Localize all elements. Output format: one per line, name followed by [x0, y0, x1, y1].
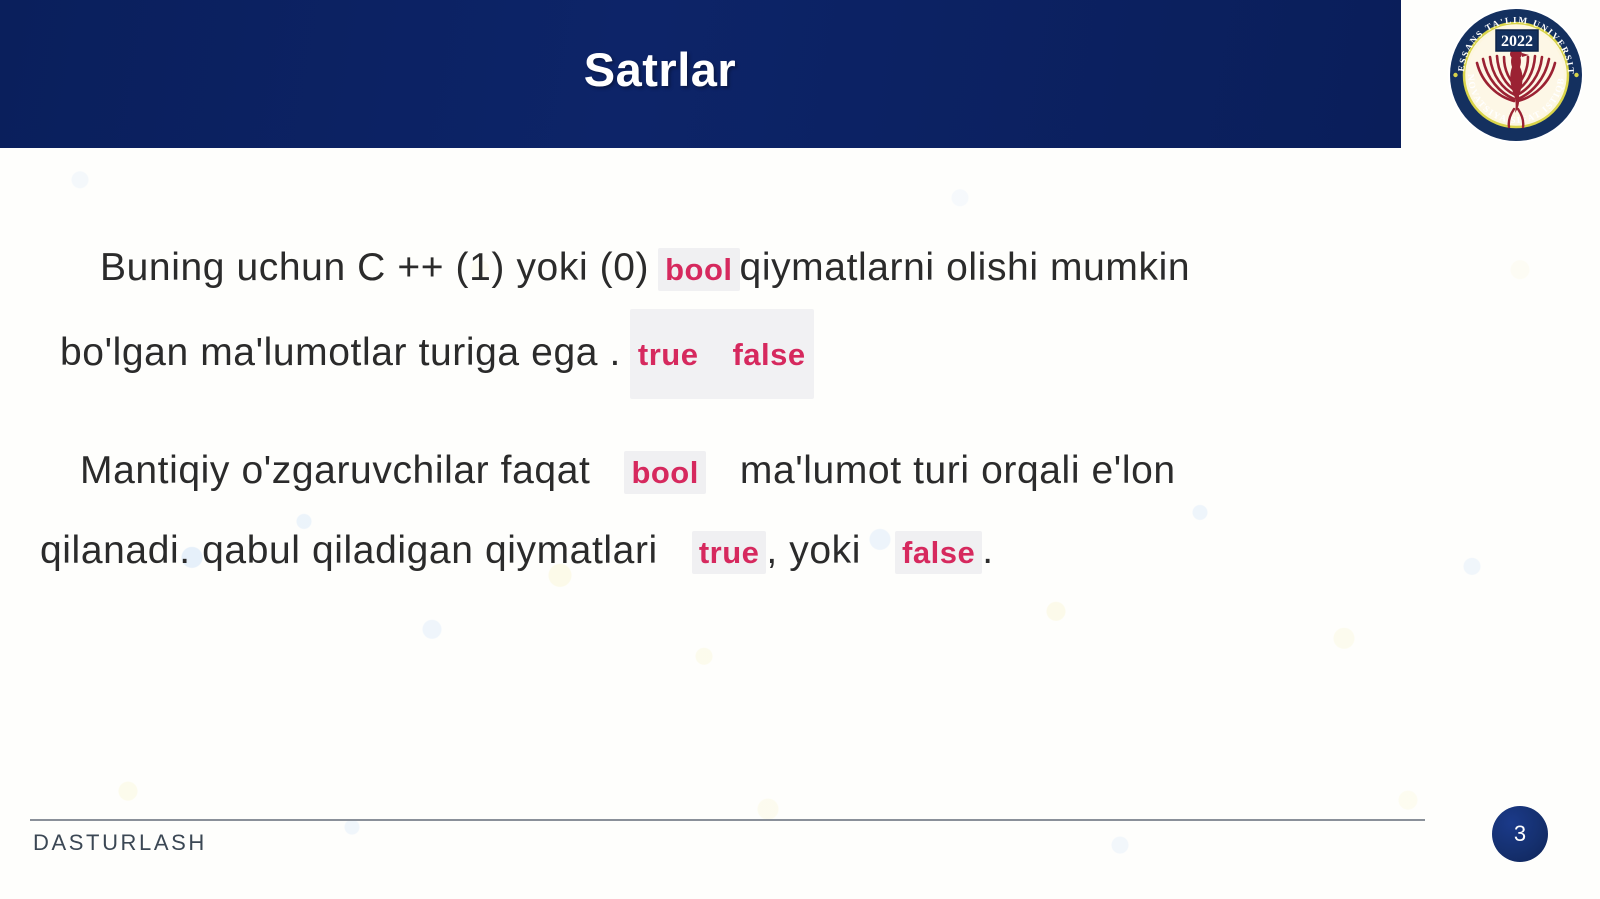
paragraph-2-line-1: Mantiqiy o'zgaruvchilar faqatboolma'lumo…: [40, 432, 1176, 512]
text-run: ma'lumot turi orqali e'lon: [740, 449, 1176, 492]
page-title: Satrlar: [0, 42, 1320, 97]
code-literal-false: false: [895, 531, 982, 574]
paragraph-1-line-1: Buning uchun C ++ (1) yoki (0)boolqiymat…: [60, 229, 1190, 309]
code-literal-false: false: [732, 337, 805, 372]
text-run: , yoki: [766, 529, 861, 572]
text-run: bo'lgan ma'lumotlar turiga ega .: [60, 331, 621, 374]
code-keyword-bool: bool: [658, 248, 739, 291]
text-run: qiymatlarni olishi mumkin: [740, 246, 1191, 289]
slide-canvas: Satrlar RENESSANS TA'LIM UNIVERSITETI IN…: [0, 0, 1600, 899]
footer-divider: [30, 819, 1425, 821]
code-keyword-bool: bool: [624, 451, 705, 494]
slide-header-bar: Satrlar: [0, 0, 1401, 148]
code-literal-group: truefalse: [630, 309, 814, 399]
paragraph-1: Buning uchun C ++ (1) yoki (0)boolqiymat…: [60, 229, 1190, 399]
logo-year: 2022: [1501, 33, 1533, 50]
page-number-badge: 3: [1492, 806, 1548, 862]
university-logo: RENESSANS TA'LIM UNIVERSITETI INNOVATSIY…: [1446, 5, 1586, 145]
paragraph-2-line-2: qilanadi. qabul qiladigan qiymatlaritrue…: [40, 512, 1176, 592]
paragraph-2: Mantiqiy o'zgaruvchilar faqatboolma'lumo…: [40, 432, 1176, 592]
text-run: Buning uchun C ++ (1) yoki (0): [100, 246, 649, 289]
text-run: Mantiqiy o'zgaruvchilar faqat: [80, 449, 590, 492]
paragraph-1-line-2: bo'lgan ma'lumotlar turiga ega .truefals…: [60, 309, 1190, 399]
code-literal-true: true: [692, 531, 767, 574]
code-literal-true: true: [638, 337, 699, 372]
footer-label: DASTURLASH: [33, 830, 207, 856]
text-run: qilanadi. qabul qiladigan qiymatlari: [40, 529, 658, 572]
text-run: .: [982, 529, 993, 572]
